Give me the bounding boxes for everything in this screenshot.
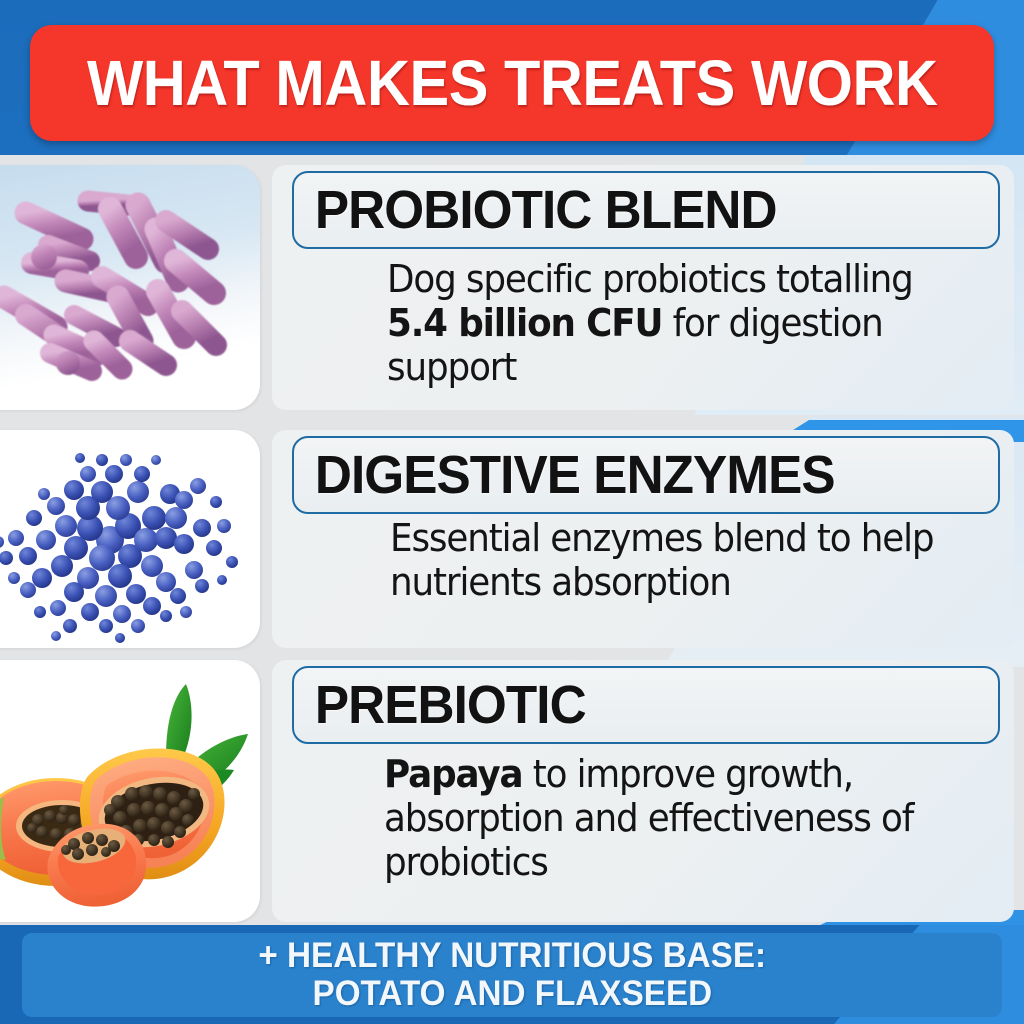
title-banner: WHAT MAKES TREATS WORK: [30, 25, 994, 141]
papaya-svg: [0, 660, 260, 922]
content-area: PROBIOTIC BLEND Dog specific probiotics …: [0, 155, 1024, 925]
infographic-poster: WHAT MAKES TREATS WORK: [0, 0, 1024, 1024]
bacteria-rods-svg: [0, 165, 260, 410]
enzyme-artwork: [0, 430, 260, 648]
feature-row-digestive-enzymes: DIGESTIVE ENZYMES Essential enzymes blen…: [0, 430, 1024, 648]
row-title-pill-prebiotic: PREBIOTIC: [292, 666, 1000, 744]
row-body-prebiotic: Papaya to improve growth, absorption and…: [384, 752, 959, 884]
panel-digestive-enzymes: DIGESTIVE ENZYMES Essential enzymes blen…: [272, 430, 1014, 648]
papaya-fruit-image: [0, 660, 260, 922]
row-body-probiotic-blend: Dog specific probiotics totalling 5.4 bi…: [387, 257, 959, 389]
footer-line-1: + HEALTHY NUTRITIOUS BASE:: [258, 937, 766, 975]
footer-line-2: POTATO AND FLAXSEED: [312, 975, 712, 1013]
panel-prebiotic: PREBIOTIC Papaya to improve growth, abso…: [272, 660, 1014, 922]
row-title-prebiotic: PREBIOTIC: [294, 674, 586, 736]
page-title: WHAT MAKES TREATS WORK: [87, 46, 938, 120]
bacteria-artwork: [0, 165, 260, 410]
row-body-digestive-enzymes: Essential enzymes blend to help nutrient…: [390, 516, 960, 604]
row-title-probiotic-blend: PROBIOTIC BLEND: [294, 179, 777, 241]
probiotic-bacteria-rods-image: [0, 165, 260, 410]
footer-pill: + HEALTHY NUTRITIOUS BASE: POTATO AND FL…: [22, 933, 1002, 1017]
panel-probiotic-blend: PROBIOTIC BLEND Dog specific probiotics …: [272, 165, 1014, 410]
papaya-artwork: [0, 660, 260, 922]
feature-row-prebiotic: PREBIOTIC Papaya to improve growth, abso…: [0, 660, 1024, 922]
enzyme-cluster-svg: [0, 430, 260, 648]
row-title-pill-probiotic-blend: PROBIOTIC BLEND: [292, 171, 1000, 249]
footer-banner: + HEALTHY NUTRITIOUS BASE: POTATO AND FL…: [0, 925, 1024, 1024]
enzyme-molecule-cluster-image: [0, 430, 260, 648]
row-title-digestive-enzymes: DIGESTIVE ENZYMES: [294, 444, 835, 506]
feature-row-probiotic-blend: PROBIOTIC BLEND Dog specific probiotics …: [0, 165, 1024, 410]
row-title-pill-digestive-enzymes: DIGESTIVE ENZYMES: [292, 436, 1000, 514]
